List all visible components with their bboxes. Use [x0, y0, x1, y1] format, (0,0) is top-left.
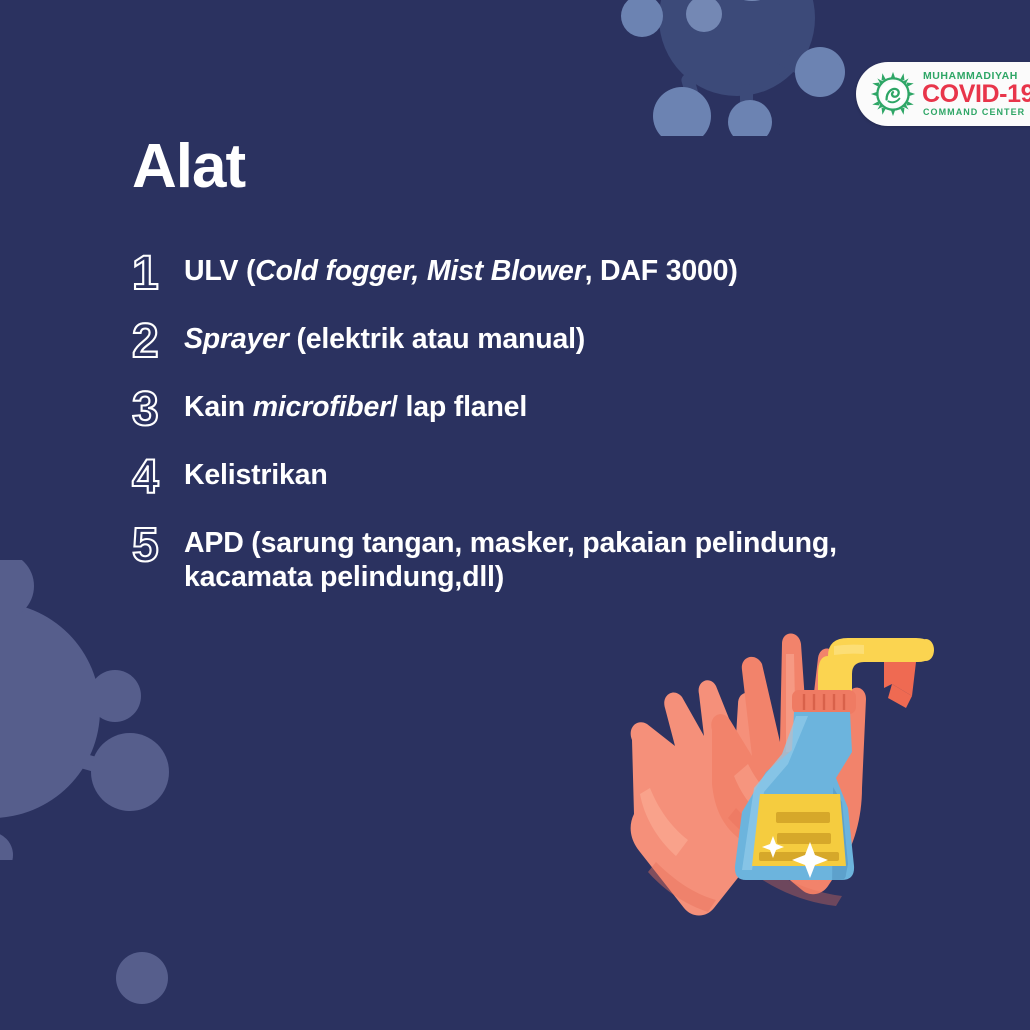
- svg-text:4: 4: [132, 451, 159, 502]
- list-item: 2Sprayer (elektrik atau manual): [128, 314, 958, 366]
- list-item: 4Kelistrikan: [128, 450, 958, 502]
- plain-text: Kain: [184, 391, 253, 423]
- emphasis-text: microfiber: [253, 391, 390, 423]
- muhammadiyah-sun-icon: [870, 71, 916, 117]
- virus-graphic-top: [612, 0, 862, 136]
- plain-text: Kelistrikan: [184, 459, 328, 491]
- plain-text: ULV (: [184, 255, 255, 287]
- plain-text: / lap flanel: [390, 391, 527, 423]
- logo-text-block: MUHAMMADIYAH COVID-19 COMMAND CENTER: [923, 71, 1030, 118]
- list-item-number: 5: [128, 518, 184, 570]
- list-item-number: 4: [128, 450, 184, 502]
- svg-text:1: 1: [132, 247, 159, 298]
- logo-line-command-center: COMMAND CENTER: [923, 108, 1030, 117]
- list-item-label: ULV (Cold fogger, Mist Blower, DAF 3000): [184, 246, 958, 288]
- list-item-label: APD (sarung tangan, masker, pakaian peli…: [184, 518, 958, 594]
- plain-text: , DAF 3000): [585, 255, 738, 287]
- list-item-number: 1: [128, 246, 184, 298]
- logo-badge: MUHAMMADIYAH COVID-19 COMMAND CENTER: [856, 62, 1030, 126]
- list-item-number: 2: [128, 314, 184, 366]
- list-item-label: Kain microfiber/ lap flanel: [184, 382, 958, 424]
- logo-line-covid19: COVID-19: [922, 82, 1030, 107]
- plain-text: (elektrik atau manual): [289, 323, 585, 355]
- list-item: 1ULV (Cold fogger, Mist Blower, DAF 3000…: [128, 246, 958, 298]
- plain-text: APD (sarung tangan, masker, pakaian peli…: [184, 527, 837, 593]
- list-item-number: 3: [128, 382, 184, 434]
- emphasis-text: Cold fogger, Mist Blower: [255, 255, 584, 287]
- dot-graphic-bottom: [116, 952, 168, 1004]
- svg-text:3: 3: [132, 383, 159, 434]
- svg-text:5: 5: [132, 519, 159, 570]
- svg-text:2: 2: [132, 315, 159, 366]
- page-title: Alat: [132, 136, 245, 198]
- list-item: 5APD (sarung tangan, masker, pakaian pel…: [128, 518, 958, 594]
- list-item-label: Kelistrikan: [184, 450, 958, 492]
- emphasis-text: Sprayer: [184, 323, 289, 355]
- equipment-list: 1ULV (Cold fogger, Mist Blower, DAF 3000…: [128, 246, 958, 610]
- infographic-poster: MUHAMMADIYAH COVID-19 COMMAND CENTER Ala…: [0, 0, 1030, 1030]
- list-item: 3Kain microfiber/ lap flanel: [128, 382, 958, 434]
- rubber-gloves-and-spray-bottle-illustration: [596, 612, 986, 962]
- list-item-label: Sprayer (elektrik atau manual): [184, 314, 958, 356]
